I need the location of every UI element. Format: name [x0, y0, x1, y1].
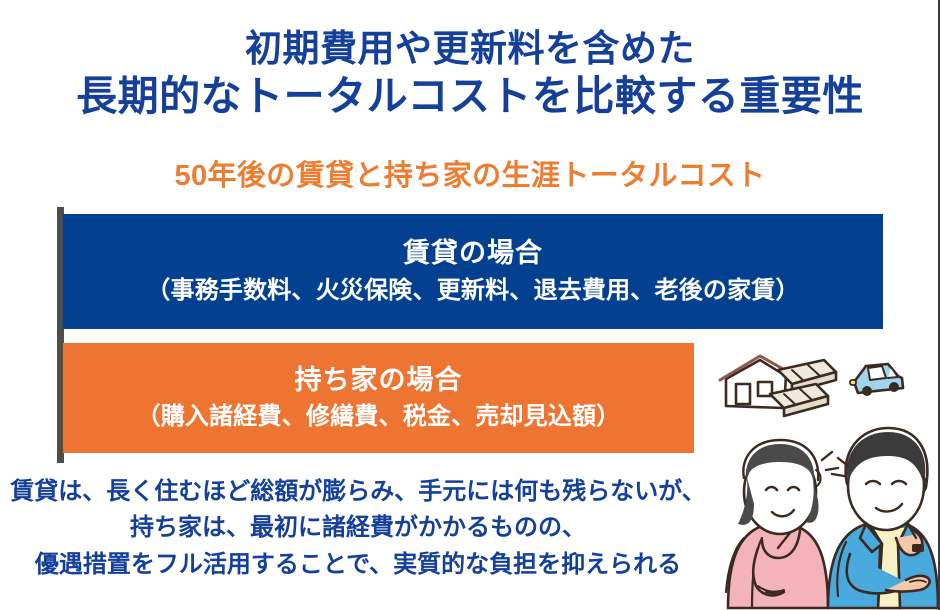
bar-own: 持ち家の場合 （購入諸経費、修繕費、税金、売却見込額）: [63, 343, 694, 453]
summary-text: 賃貸は、長く住むほど総額が膨らみ、手元には何も残らないが、 持ち家は、最初に諸経…: [0, 474, 716, 583]
bar-rent-title: 賃貸の場合: [403, 237, 543, 269]
thinking-man-illustration: [828, 428, 938, 608]
summary-line-2: 持ち家は、最初に諸経費がかかるものの、: [0, 510, 716, 546]
bar-own-detail: （購入諸経費、修繕費、税金、売却見込額）: [137, 402, 621, 432]
thinking-woman-illustration: [726, 440, 838, 608]
bar-rent: 賃貸の場合 （事務手数料、火災保険、更新料、退去費用、老後の家賃）: [63, 214, 883, 329]
summary-line-3: 優遇措置をフル活用することで、実質的な負担を抑えられる: [0, 547, 716, 583]
bar-rent-detail: （事務手数料、火災保険、更新料、退去費用、老後の家賃）: [146, 276, 799, 306]
summary-line-1: 賃貸は、長く住むほど総額が膨らみ、手元には何も残らないが、: [0, 474, 716, 510]
thinking-couple-illustration: [700, 352, 940, 610]
bar-own-title: 持ち家の場合: [295, 364, 463, 396]
car-icon: [850, 364, 903, 396]
infographic-slide: 初期費用や更新料を含めた 長期的なトータルコストを比較する重要性 50年後の賃貸…: [0, 0, 940, 610]
